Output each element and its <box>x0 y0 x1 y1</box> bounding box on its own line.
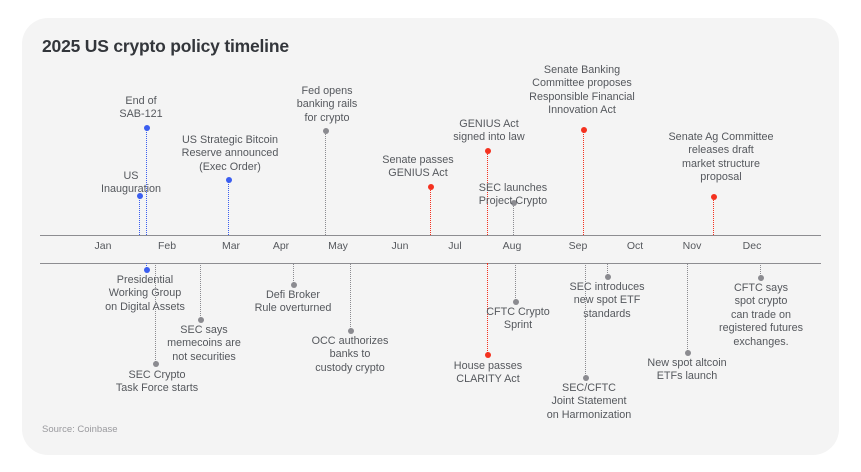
event-label-occ-authorizes-custody: OCC authorizes banks to custody crypto <box>312 335 389 375</box>
event-stem-us-inauguration <box>139 196 140 235</box>
month-tick-jul: Jul <box>448 240 461 252</box>
event-label-senate-passes-genius: Senate passes GENIUS Act <box>382 154 453 181</box>
event-marker-cftc-spot-crypto-futures[interactable] <box>758 275 764 281</box>
month-tick-oct: Oct <box>627 240 643 252</box>
event-label-sec-crypto-task-force: SEC Crypto Task Force starts <box>116 369 198 396</box>
event-marker-senate-banking-rfia[interactable] <box>581 127 587 133</box>
axis-line-top <box>40 235 821 236</box>
month-tick-may: May <box>328 240 348 252</box>
event-stem-senate-ag-market-structure <box>713 197 714 235</box>
event-label-sec-launches-project-crypto: SEC launches Project Crypto <box>479 182 547 209</box>
axis-line-bottom <box>40 263 821 264</box>
event-marker-sec-memecoins-not-securities[interactable] <box>198 317 204 323</box>
event-marker-presidential-working-group[interactable] <box>144 267 150 273</box>
event-marker-fed-opens-banking-rails[interactable] <box>323 128 329 134</box>
month-tick-dec: Dec <box>743 240 762 252</box>
event-label-us-strategic-btc-reserve: US Strategic Bitcoin Reserve announced (… <box>182 134 279 174</box>
event-label-genius-act-signed: GENIUS Act signed into law <box>453 118 524 145</box>
event-label-defi-broker-rule-overturned: Defi Broker Rule overturned <box>255 289 332 316</box>
event-marker-senate-passes-genius[interactable] <box>428 184 434 190</box>
event-marker-defi-broker-rule-overturned[interactable] <box>291 282 297 288</box>
event-marker-sec-spot-etf-standards[interactable] <box>605 274 611 280</box>
event-marker-house-passes-clarity[interactable] <box>485 352 491 358</box>
event-label-house-passes-clarity: House passes CLARITY Act <box>454 360 522 387</box>
event-marker-us-strategic-btc-reserve[interactable] <box>226 177 232 183</box>
event-stem-occ-authorizes-custody <box>350 263 351 331</box>
event-stem-senate-passes-genius <box>430 187 431 235</box>
event-stem-sec-crypto-task-force <box>155 263 156 364</box>
event-stem-senate-banking-rfia <box>583 130 584 235</box>
event-label-senate-ag-market-structure: Senate Ag Committee releases draft marke… <box>668 131 773 185</box>
month-tick-mar: Mar <box>222 240 240 252</box>
event-marker-senate-ag-market-structure[interactable] <box>711 194 717 200</box>
event-marker-end-of-sab-121[interactable] <box>144 125 150 131</box>
month-tick-sep: Sep <box>569 240 588 252</box>
month-tick-nov: Nov <box>683 240 702 252</box>
event-stem-us-strategic-btc-reserve <box>228 180 229 235</box>
page-title: 2025 US crypto policy timeline <box>42 36 289 57</box>
event-label-sec-cftc-joint-statement: SEC/CFTC Joint Statement on Harmonizatio… <box>547 382 632 422</box>
event-label-fed-opens-banking-rails: Fed opens banking rails for crypto <box>297 85 358 125</box>
event-stem-fed-opens-banking-rails <box>325 131 326 235</box>
timeline-chart-root: 2025 US crypto policy timeline JanFebMar… <box>0 0 861 472</box>
event-marker-new-spot-altcoin-etfs[interactable] <box>685 350 691 356</box>
event-label-us-inauguration: US Inauguration <box>101 170 161 197</box>
event-marker-sec-cftc-joint-statement[interactable] <box>583 375 589 381</box>
month-tick-feb: Feb <box>158 240 176 252</box>
event-label-new-spot-altcoin-etfs: New spot altcoin ETFs launch <box>647 357 726 384</box>
event-label-cftc-crypto-sprint: CFTC Crypto Sprint <box>486 306 550 333</box>
event-label-sec-memecoins-not-securities: SEC says memecoins are not securities <box>167 324 241 364</box>
event-marker-occ-authorizes-custody[interactable] <box>348 328 354 334</box>
event-stem-sec-cftc-joint-statement <box>585 263 586 378</box>
month-tick-apr: Apr <box>273 240 289 252</box>
month-tick-aug: Aug <box>503 240 522 252</box>
event-marker-cftc-crypto-sprint[interactable] <box>513 299 519 305</box>
event-stem-cftc-crypto-sprint <box>515 263 516 302</box>
month-tick-jun: Jun <box>392 240 409 252</box>
event-label-senate-banking-rfia: Senate Banking Committee proposes Respon… <box>529 64 635 118</box>
event-marker-sec-crypto-task-force[interactable] <box>153 361 159 367</box>
month-tick-jan: Jan <box>95 240 112 252</box>
event-marker-genius-act-signed[interactable] <box>485 148 491 154</box>
event-stem-sec-memecoins-not-securities <box>200 263 201 320</box>
event-stem-end-of-sab-121 <box>146 128 147 235</box>
event-label-end-of-sab-121: End of SAB-121 <box>119 95 162 122</box>
event-stem-new-spot-altcoin-etfs <box>687 263 688 353</box>
event-label-cftc-spot-crypto-futures: CFTC says spot crypto can trade on regis… <box>719 282 803 349</box>
event-label-sec-spot-etf-standards: SEC introduces new spot ETF standards <box>569 281 644 321</box>
source-note: Source: Coinbase <box>42 424 118 435</box>
event-label-presidential-working-group: Presidential Working Group on Digital As… <box>105 274 185 314</box>
